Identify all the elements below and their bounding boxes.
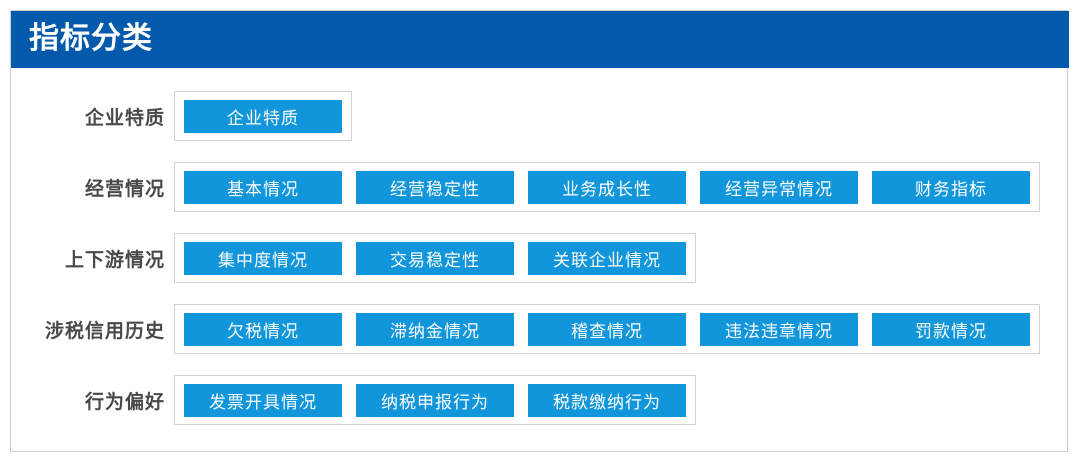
row-label-4: 行为偏好 bbox=[11, 387, 174, 414]
indicator-classification-card: 指标分类 企业特质企业特质经营情况基本情况经营稳定性业务成长性经营异常情况财务指… bbox=[10, 10, 1068, 452]
indicator-chip[interactable]: 罚款情况 bbox=[872, 313, 1030, 346]
row-group-box: 发票开具情况纳税申报行为税款缴纳行为 bbox=[174, 375, 696, 425]
page-title: 指标分类 bbox=[29, 20, 153, 58]
indicator-chip[interactable]: 企业特质 bbox=[184, 100, 342, 133]
indicator-chip[interactable]: 税款缴纳行为 bbox=[528, 384, 686, 417]
indicator-chip[interactable]: 业务成长性 bbox=[528, 171, 686, 204]
indicator-chip[interactable]: 集中度情况 bbox=[184, 242, 342, 275]
indicator-chip[interactable]: 违法违章情况 bbox=[700, 313, 858, 346]
indicator-row: 涉税信用历史欠税情况滞纳金情况稽查情况违法违章情况罚款情况 bbox=[11, 304, 1069, 354]
row-group-box: 欠税情况滞纳金情况稽查情况违法违章情况罚款情况 bbox=[174, 304, 1040, 354]
indicator-chip[interactable]: 经营稳定性 bbox=[356, 171, 514, 204]
row-group-box: 基本情况经营稳定性业务成长性经营异常情况财务指标 bbox=[174, 162, 1040, 212]
row-group-box: 企业特质 bbox=[174, 91, 352, 141]
row-label-1: 经营情况 bbox=[11, 174, 174, 201]
indicator-chip[interactable]: 纳税申报行为 bbox=[356, 384, 514, 417]
card-header-bar: 指标分类 bbox=[11, 11, 1069, 68]
indicator-chip[interactable]: 欠税情况 bbox=[184, 313, 342, 346]
indicator-row: 上下游情况集中度情况交易稳定性关联企业情况 bbox=[11, 233, 1069, 283]
indicator-rows-container: 企业特质企业特质经营情况基本情况经营稳定性业务成长性经营异常情况财务指标上下游情… bbox=[11, 68, 1069, 452]
row-label-3: 涉税信用历史 bbox=[11, 316, 174, 343]
row-group-box: 集中度情况交易稳定性关联企业情况 bbox=[174, 233, 696, 283]
indicator-chip[interactable]: 滞纳金情况 bbox=[356, 313, 514, 346]
indicator-chip[interactable]: 稽查情况 bbox=[528, 313, 686, 346]
row-label-2: 上下游情况 bbox=[11, 245, 174, 272]
indicator-row: 经营情况基本情况经营稳定性业务成长性经营异常情况财务指标 bbox=[11, 162, 1069, 212]
indicator-chip[interactable]: 发票开具情况 bbox=[184, 384, 342, 417]
indicator-row: 行为偏好发票开具情况纳税申报行为税款缴纳行为 bbox=[11, 375, 1069, 425]
indicator-chip[interactable]: 关联企业情况 bbox=[528, 242, 686, 275]
indicator-chip[interactable]: 基本情况 bbox=[184, 171, 342, 204]
indicator-chip[interactable]: 经营异常情况 bbox=[700, 171, 858, 204]
indicator-row: 企业特质企业特质 bbox=[11, 91, 1069, 141]
indicator-chip[interactable]: 财务指标 bbox=[872, 171, 1030, 204]
row-label-0: 企业特质 bbox=[11, 103, 174, 130]
indicator-chip[interactable]: 交易稳定性 bbox=[356, 242, 514, 275]
